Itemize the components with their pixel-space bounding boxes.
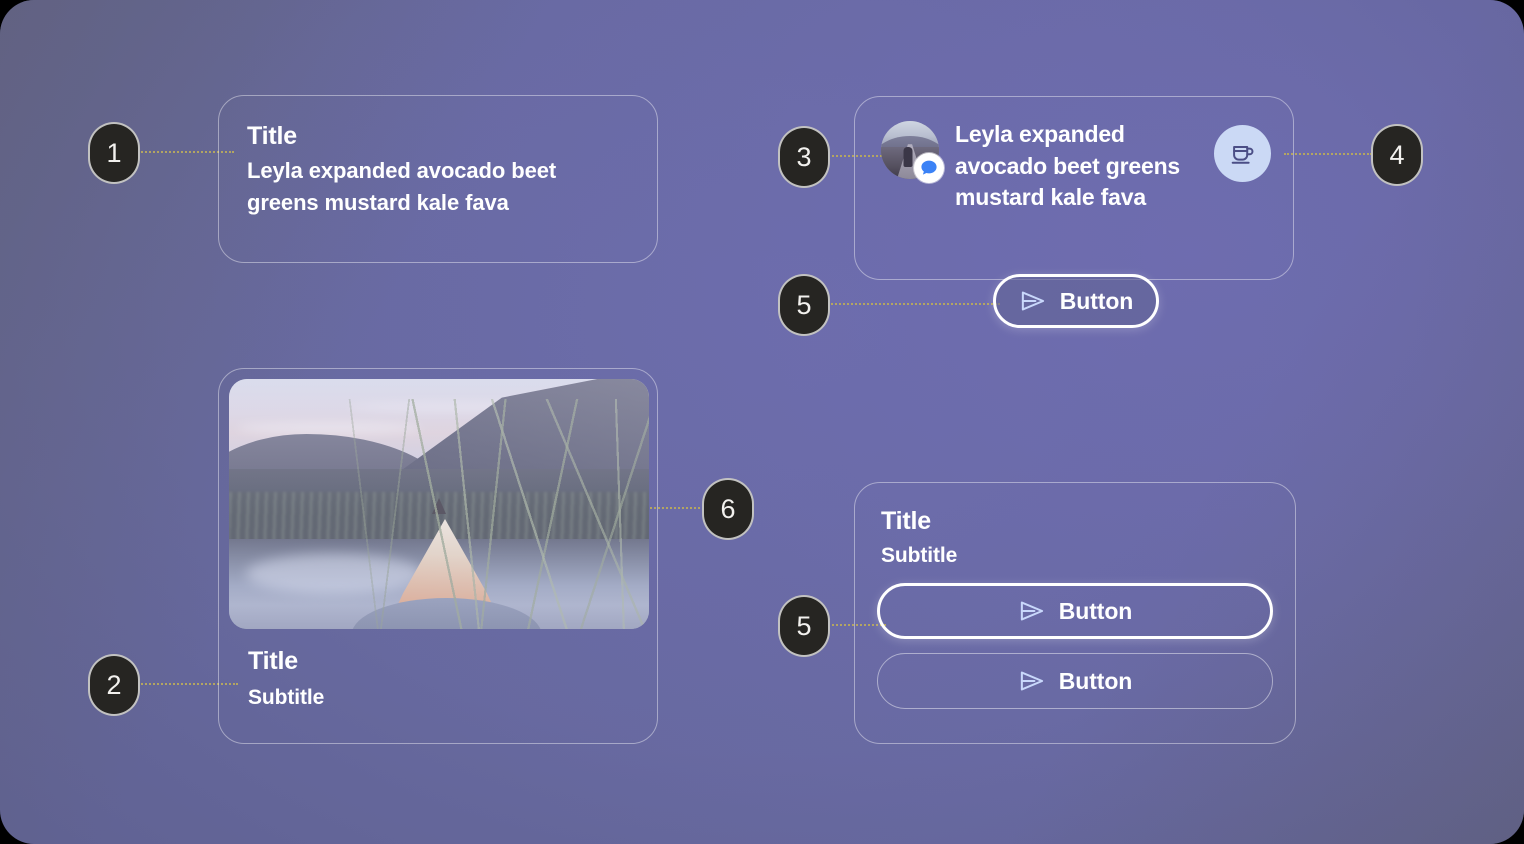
message-card-text: Leyla expanded avocado beet greens musta…: [955, 119, 1187, 214]
actions-card-button-primary[interactable]: Button: [877, 583, 1273, 639]
text-card[interactable]: Title Leyla expanded avocado beet greens…: [218, 95, 658, 263]
marker-1[interactable]: 1: [88, 122, 140, 184]
message-card-avatar[interactable]: [881, 121, 939, 179]
marker-6[interactable]: 6: [702, 478, 754, 540]
photo-color-wash: [229, 379, 649, 629]
leader-line-4: [1284, 153, 1372, 155]
marker-3[interactable]: 3: [778, 126, 830, 188]
message-card-button[interactable]: Button: [993, 274, 1159, 328]
actions-card[interactable]: Title Subtitle Button Button: [854, 482, 1296, 744]
actions-card-button-primary-label: Button: [1059, 598, 1132, 625]
actions-card-title: Title: [881, 507, 1273, 536]
actions-card-button-secondary[interactable]: Button: [877, 653, 1273, 709]
media-card-photo[interactable]: [229, 379, 649, 629]
marker-5b[interactable]: 5: [778, 595, 830, 657]
leader-line-6: [650, 507, 708, 509]
send-triangle-icon: [1018, 599, 1045, 623]
media-card-subtitle: Subtitle: [248, 684, 647, 711]
coffee-cup-icon[interactable]: [1214, 125, 1271, 182]
text-card-body: Leyla expanded avocado beet greens musta…: [247, 155, 629, 219]
send-triangle-icon: [1018, 669, 1045, 693]
leader-line-5a: [828, 303, 1000, 305]
marker-5a[interactable]: 5: [778, 274, 830, 336]
actions-card-subtitle: Subtitle: [881, 542, 1273, 569]
message-card-button-label: Button: [1060, 288, 1133, 315]
media-card[interactable]: Title Subtitle: [218, 368, 658, 744]
marker-4[interactable]: 4: [1371, 124, 1423, 186]
marker-2[interactable]: 2: [88, 654, 140, 716]
chat-bubble-icon: [914, 153, 944, 183]
message-card[interactable]: Leyla expanded avocado beet greens musta…: [854, 96, 1294, 280]
media-card-title: Title: [248, 647, 647, 676]
text-card-title: Title: [247, 122, 629, 151]
actions-card-button-secondary-label: Button: [1059, 668, 1132, 695]
avatar-person: [903, 147, 912, 167]
annotation-board: Title Leyla expanded avocado beet greens…: [0, 0, 1524, 844]
send-triangle-icon: [1019, 289, 1046, 313]
